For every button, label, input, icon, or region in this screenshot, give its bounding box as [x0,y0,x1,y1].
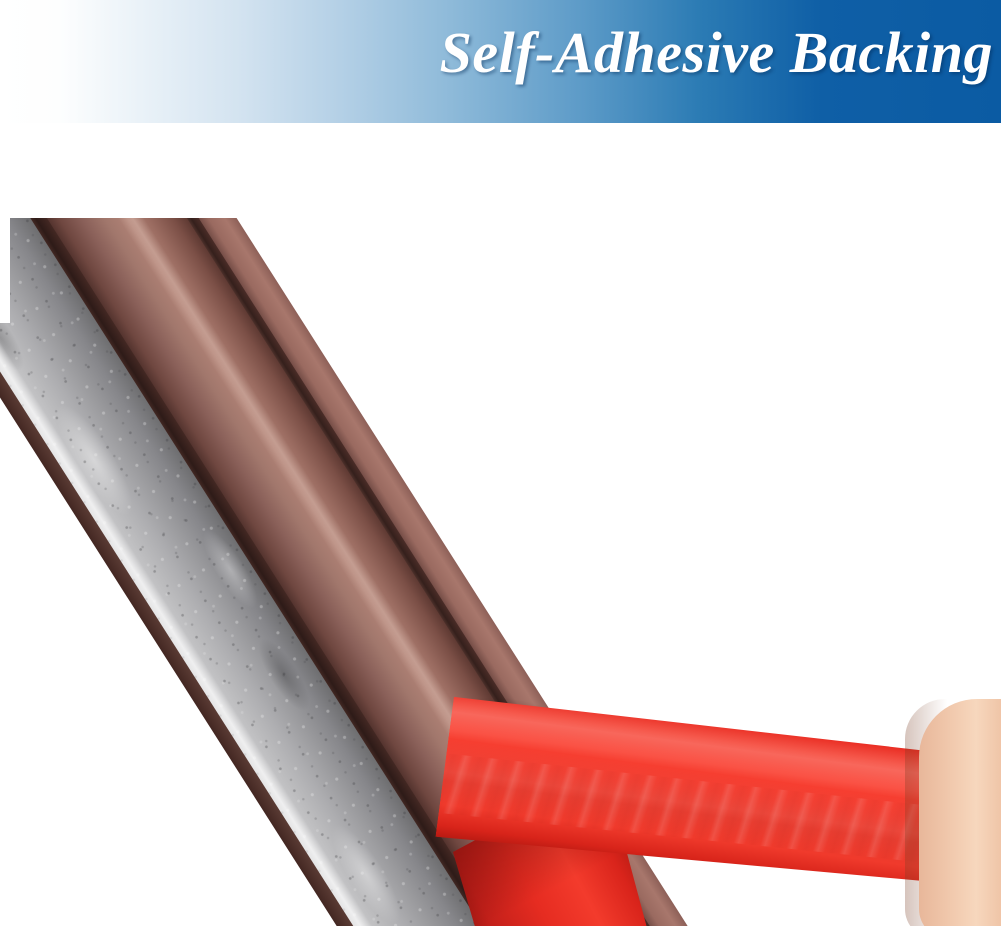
banner-title: Self-Adhesive Backing [440,18,993,88]
header-banner: Self-Adhesive Backing [0,0,1001,123]
product-feature-image: Self-Adhesive Backing The flexible floor… [0,0,1001,926]
photo-mask-top [0,123,1001,218]
photo-mask-left [0,123,10,323]
fingertip-peeling-liner [919,699,1001,926]
product-photo [0,123,1001,926]
